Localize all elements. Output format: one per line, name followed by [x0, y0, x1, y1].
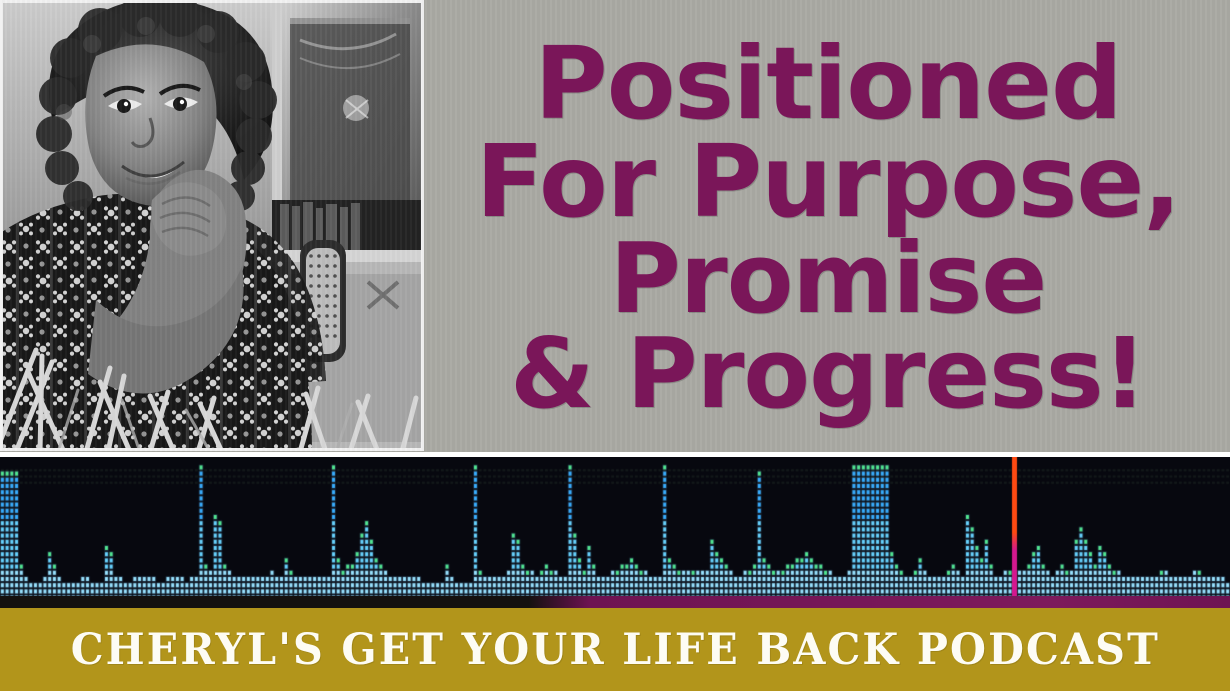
host-portrait-photo [0, 0, 424, 451]
header-band: Positioned For Purpose, Promise & Progre… [0, 0, 1230, 452]
audio-waveform-panel[interactable] [0, 457, 1230, 608]
audio-waveform-canvas[interactable] [0, 457, 1230, 608]
title-line-3: Promise [610, 231, 1046, 326]
podcast-name-bar: CHERYL'S GET YOUR LIFE BACK PODCAST [0, 608, 1230, 691]
title-line-4: & Progress! [510, 326, 1146, 421]
portrait-illustration [0, 0, 424, 451]
title-line-2: For Purpose, [476, 133, 1181, 231]
title-line-1: Positioned [534, 35, 1121, 133]
waveform-bottom-rail [0, 596, 1230, 608]
podcast-cover-image: Positioned For Purpose, Promise & Progre… [0, 0, 1230, 691]
podcast-name-text: CHERYL'S GET YOUR LIFE BACK PODCAST [70, 625, 1159, 675]
cover-title: Positioned For Purpose, Promise & Progre… [432, 8, 1224, 448]
